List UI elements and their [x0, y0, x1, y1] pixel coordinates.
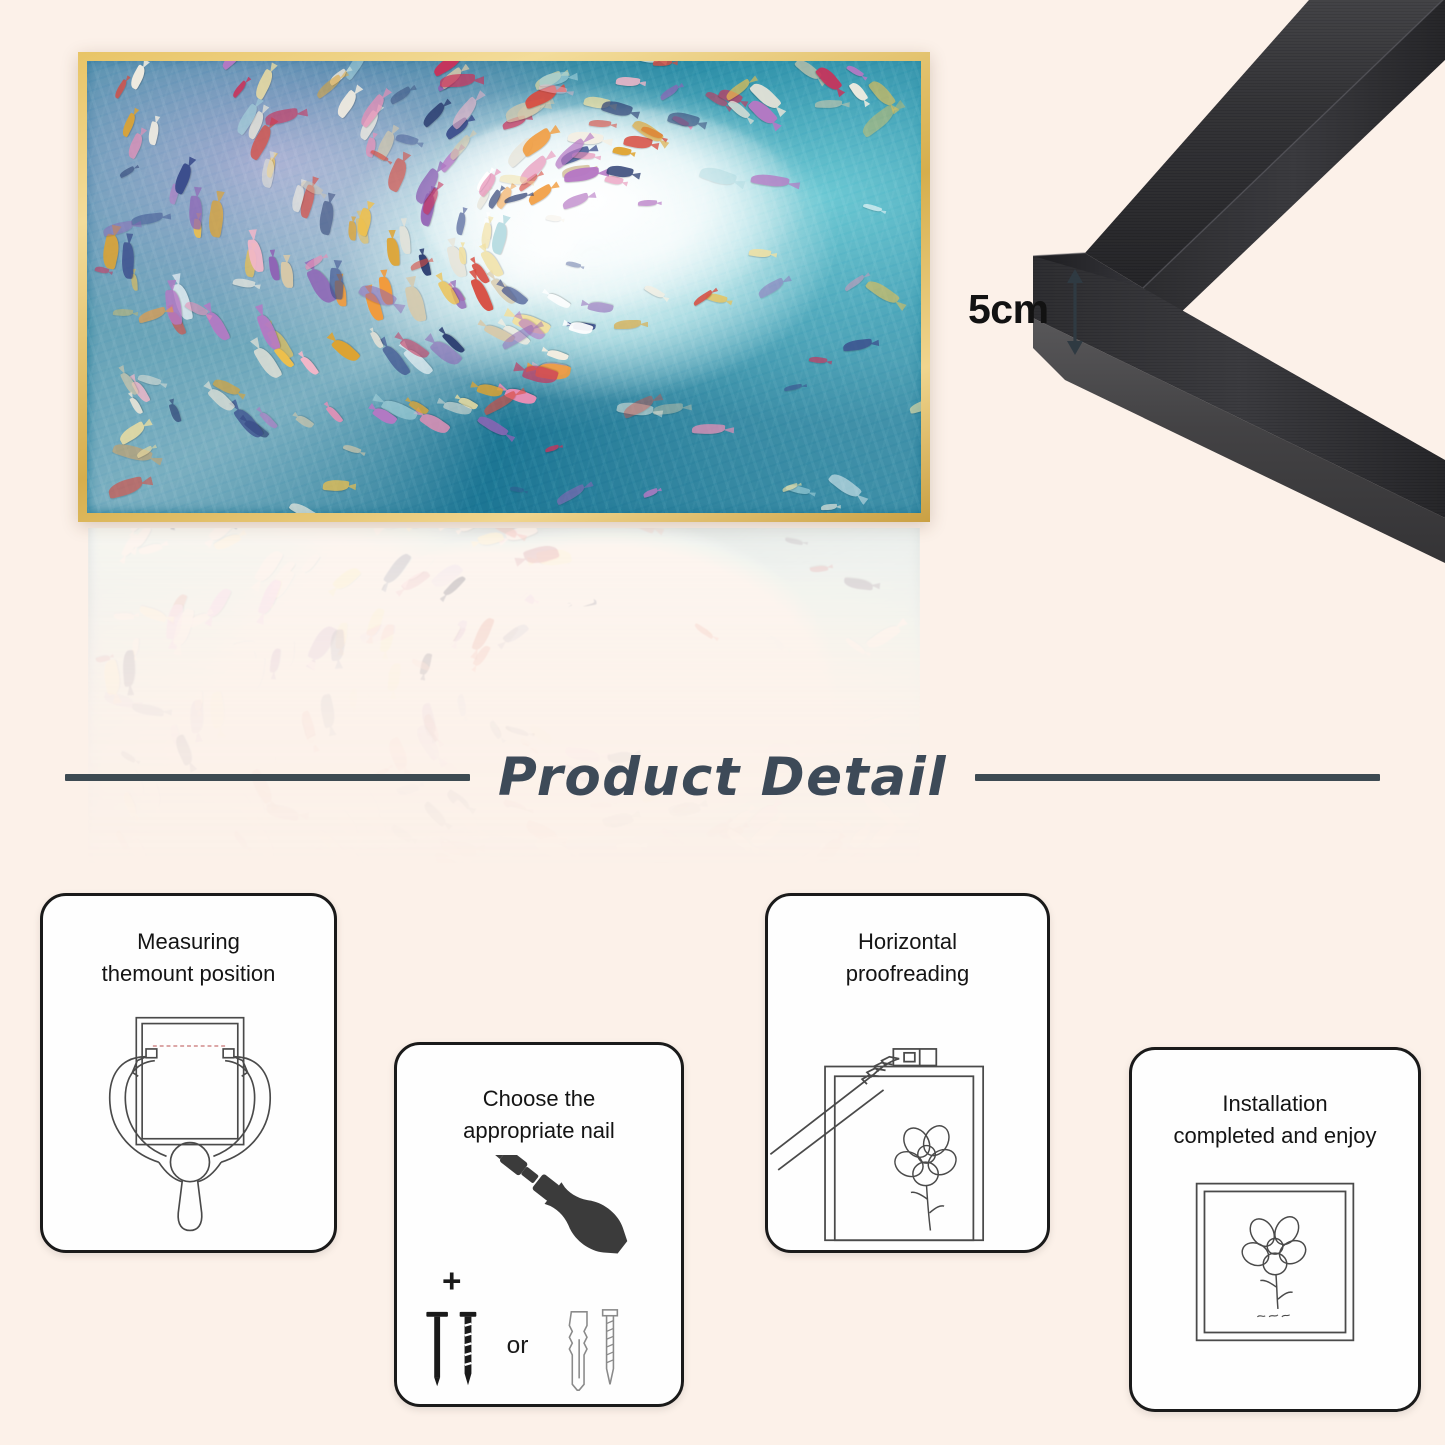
- card-title-measuring: Measuring themount position: [43, 926, 334, 990]
- framed-fish-painting: [78, 52, 930, 522]
- painting-reflection: [88, 528, 920, 868]
- hung-framed-flower-illustration: [1132, 1160, 1418, 1409]
- hammer-and-fasteners-illustration: + or: [397, 1155, 681, 1404]
- step-card-measuring: Measuring themount position: [40, 893, 337, 1253]
- gold-frame-border: [78, 52, 930, 522]
- divider-left: [65, 774, 470, 781]
- step-card-horizontal-proofreading: Horizontal proofreading: [765, 893, 1050, 1253]
- product-detail-heading: Product Detail: [0, 742, 1445, 812]
- card-title-choose-nail: Choose the appropriate nail: [397, 1083, 681, 1147]
- card-title-installation-complete: Installation completed and enjoy: [1132, 1088, 1418, 1152]
- card-title-horizontal-proofreading: Horizontal proofreading: [768, 926, 1047, 990]
- frame-depth-arrow-icon: [1058, 268, 1092, 356]
- frame-depth-label: 5cm: [968, 286, 1049, 333]
- svg-text:+: +: [442, 1263, 461, 1300]
- step-card-choose-nail: Choose the appropriate nail +: [394, 1042, 684, 1407]
- step-card-installation-complete: Installation completed and enjoy: [1129, 1047, 1421, 1412]
- svg-text:or: or: [507, 1332, 529, 1359]
- measuring-mount-position-illustration: [43, 1006, 334, 1250]
- divider-right: [975, 774, 1380, 781]
- section-title-text: Product Detail: [498, 747, 947, 808]
- spirit-level-on-frame-illustration: [768, 1006, 1047, 1250]
- painting-canvas: [87, 61, 921, 513]
